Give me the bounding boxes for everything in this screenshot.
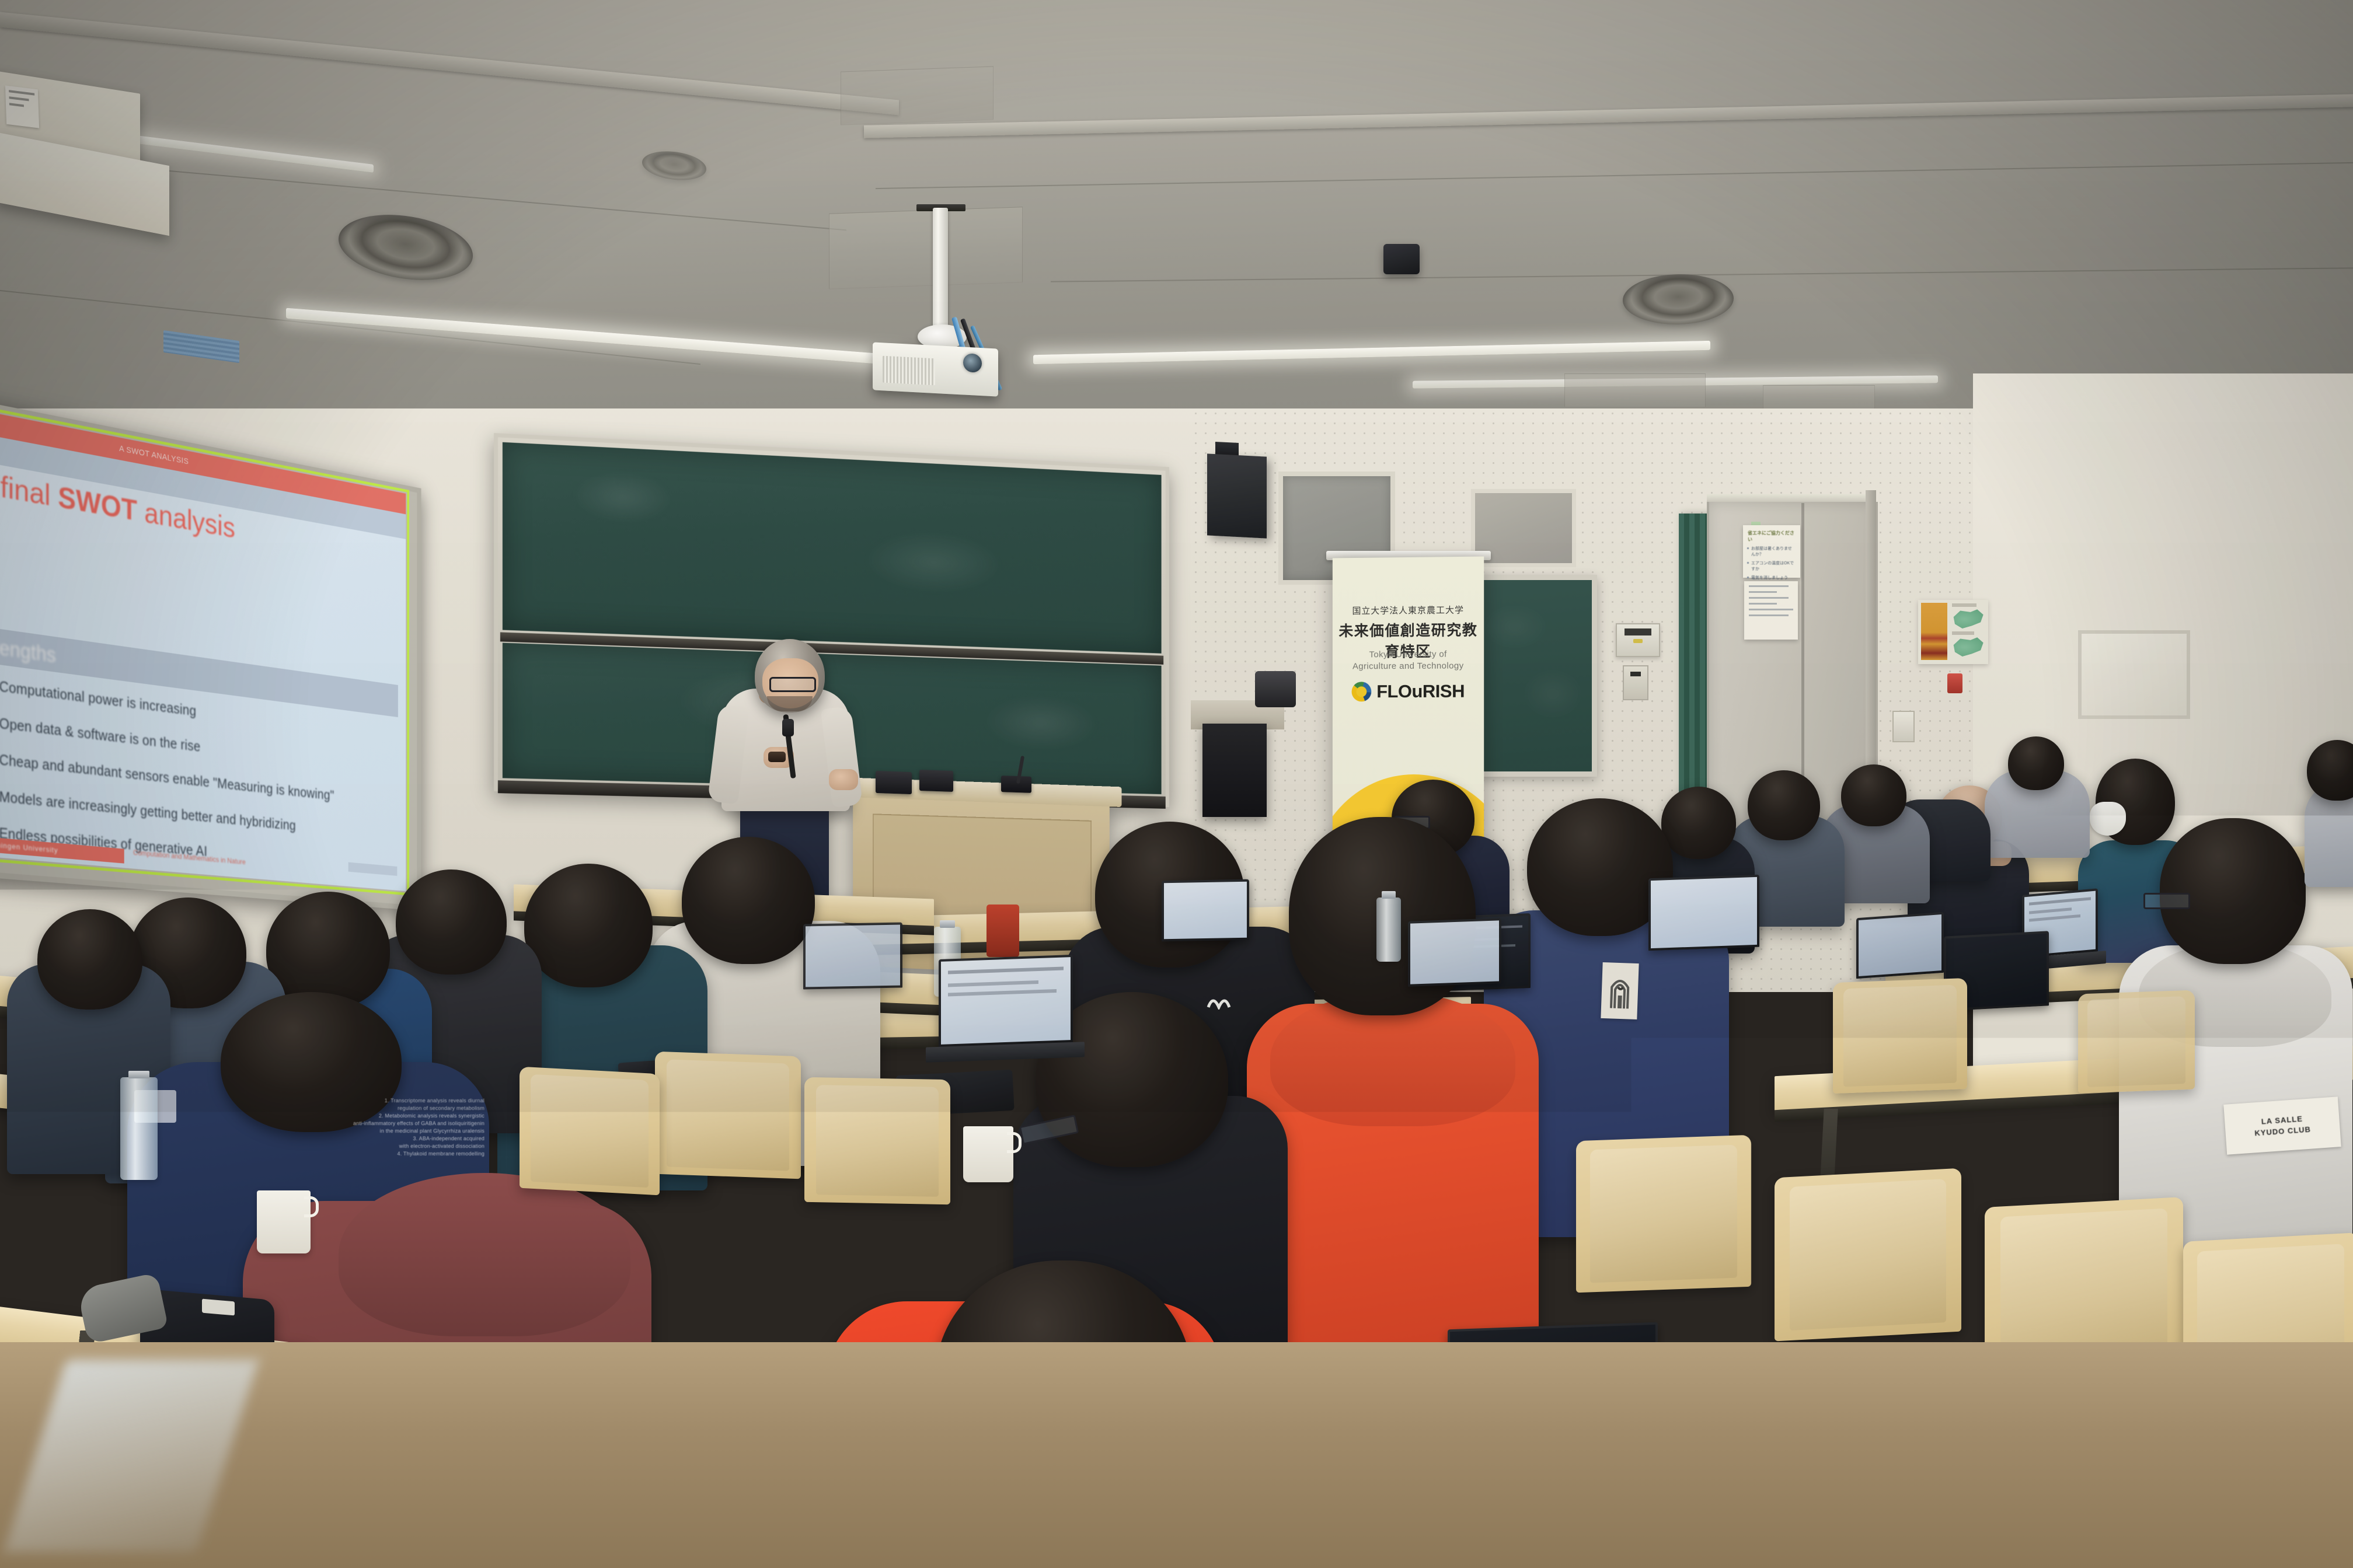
- blackboard-panel-upper: [503, 442, 1162, 654]
- floor-plan-map-icon: [1951, 608, 1985, 630]
- knowledge-panel-line: [960, 1314, 999, 1321]
- posted-notice: [5, 85, 39, 128]
- av-equipment-rack: [1202, 724, 1267, 817]
- knowledge-panel-line: [963, 1332, 1010, 1341]
- slide-section-label: Strengths: [0, 633, 56, 668]
- ceiling-panel: [1564, 373, 1706, 407]
- ceiling-access-panel: [829, 207, 1023, 289]
- intercom-speaker-icon: [1630, 672, 1641, 676]
- result-thumbnail[interactable]: [916, 1302, 949, 1330]
- knowledge-panel-line: [958, 1294, 1003, 1302]
- north-face-logo-icon: [1206, 992, 1232, 1010]
- intercom-panel[interactable]: [1623, 665, 1648, 700]
- cup-handle-icon: [1007, 1132, 1022, 1153]
- chair[interactable]: [1775, 1168, 1961, 1342]
- audience-head: [524, 864, 653, 987]
- flourish-wordmark: FLOuRISH: [1376, 681, 1465, 703]
- laptop[interactable]: [1162, 879, 1249, 942]
- water-bottle: [120, 1077, 158, 1180]
- laptop-screen: [941, 957, 1071, 1045]
- mug: [963, 1126, 1013, 1182]
- ceiling-access-panel: [841, 66, 994, 125]
- evacuation-map-poster: [1918, 600, 1988, 664]
- chair[interactable]: [655, 1052, 801, 1179]
- audience-head: [37, 909, 142, 1010]
- podium-equipment: [876, 771, 912, 794]
- lecture-hall-photo: A SWOT ANALYSIS A final SWOT analysis St…: [0, 0, 2353, 1568]
- hoodie-hood: [339, 1173, 630, 1336]
- bottle-cap-icon: [1382, 891, 1396, 899]
- notice-item: エアコンの温度はOKですか: [1751, 560, 1796, 572]
- banner-english-line-2: Agriculture and Technology: [1333, 661, 1484, 671]
- floor: [0, 1342, 2353, 1568]
- knowledge-panel-line: [964, 1343, 998, 1350]
- hoodie-line: anti-inflammatory effects of GABA and is…: [251, 1120, 484, 1127]
- bullet-text: Open data & software is on the rise: [0, 715, 200, 756]
- chair[interactable]: [804, 1077, 950, 1204]
- audience-head: [396, 869, 507, 975]
- banner-english-line-1: Tokyo University of: [1333, 649, 1484, 660]
- laptop[interactable]: [803, 923, 902, 990]
- result-thumbnail[interactable]: [999, 1288, 1027, 1317]
- hoodie-line: 4. Thylakoid membrane remodelling: [251, 1150, 484, 1158]
- search-result-line: [804, 1346, 937, 1365]
- hoodie-graphic-patch: LA SALLE KYUDO CLUB: [2223, 1096, 2341, 1154]
- laptop[interactable]: [1648, 875, 1759, 951]
- arch-logo-icon: [1608, 969, 1632, 1012]
- presenter-right-hand: [829, 769, 858, 790]
- podium-equipment: [919, 770, 953, 792]
- electric-kettle: [1255, 671, 1296, 707]
- chair[interactable]: [1833, 978, 1967, 1094]
- audience-head: [1748, 770, 1820, 840]
- laptop-screen: [806, 925, 900, 987]
- face-mask: [2090, 802, 2126, 836]
- presentation-clicker[interactable]: [768, 752, 786, 762]
- audience-head: [266, 892, 390, 1008]
- audience-head: [1841, 764, 1906, 826]
- bottle-cap-icon: [128, 1071, 149, 1078]
- notice-item: お部屋は暑くありませんか？: [1751, 546, 1796, 557]
- audience-head: [682, 837, 815, 964]
- laptop[interactable]: [1856, 912, 1944, 979]
- map-caption: [1952, 603, 1976, 607]
- presenter-eyeglasses: [769, 677, 816, 692]
- thermos-bottle: [257, 1190, 311, 1253]
- water-bottle: [1376, 898, 1401, 962]
- clothing-label-patch: [1601, 962, 1639, 1019]
- laptop-screen: [1859, 914, 1941, 976]
- projector-mount-pole: [933, 208, 948, 330]
- fire-alarm-button[interactable]: [1947, 673, 1962, 693]
- foreground-laptop[interactable]: Google 検索: [767, 1202, 1090, 1464]
- notice-item: 電気を消しましょう: [1751, 575, 1796, 581]
- lapel-microphone: [782, 719, 794, 736]
- search-query-text: 検索: [842, 1277, 853, 1286]
- projector-lens-icon: [963, 353, 982, 373]
- control-panel-button[interactable]: [1633, 639, 1643, 643]
- map-caption: [1952, 631, 1974, 635]
- google-logo: Google: [795, 1279, 831, 1297]
- laptop[interactable]: [939, 955, 1073, 1047]
- notice-title: 省エネにご協力ください: [1748, 530, 1796, 543]
- banner-logo-row: FLOuRISH: [1333, 680, 1484, 702]
- hoodie-line: 1. Transcriptome analysis reveals diurna…: [251, 1097, 484, 1105]
- laptop-screen: [1164, 882, 1247, 939]
- control-panel-display: [1625, 628, 1651, 635]
- ceiling-camera-icon: [1383, 244, 1420, 274]
- hoodie-science-text: 1. Transcriptome analysis reveals diurna…: [251, 1097, 484, 1158]
- floor-plan-map-icon: [1951, 636, 1985, 658]
- flourish-logo-icon: [1352, 682, 1372, 701]
- audience-head: [1661, 787, 1736, 859]
- secondary-door-notice: [1744, 581, 1798, 640]
- laptop[interactable]: [1408, 918, 1501, 987]
- hoodie-line: regulation of secondary metabolism: [251, 1105, 484, 1112]
- chair[interactable]: [2078, 990, 2195, 1094]
- chair[interactable]: [1576, 1135, 1751, 1293]
- search-result-line: [806, 1353, 956, 1374]
- laptop-screen: [1651, 877, 1757, 948]
- right-wall-whiteboard: [2078, 630, 2190, 719]
- hoodie-line: in the medicinal plant Glycyrrhiza urale…: [251, 1127, 484, 1135]
- laptop-screen[interactable]: Google 検索: [778, 1215, 1079, 1446]
- laptop-screen: [1410, 920, 1499, 984]
- chair[interactable]: [520, 1067, 660, 1196]
- hoodie-line: with electron-activated dissociation: [251, 1143, 484, 1150]
- light-switch[interactable]: [1892, 711, 1915, 742]
- cup-handle-icon: [304, 1196, 319, 1217]
- energy-saving-notice: 省エネにご協力ください お部屋は暑くありませんか？ エアコンの温度はOKですか …: [1743, 525, 1800, 578]
- hoodie-text-line-1: LA SALLE: [2261, 1115, 2303, 1126]
- wall-speaker: [1207, 453, 1267, 538]
- podium-equipment: [1001, 776, 1031, 793]
- audience-head: [2008, 736, 2064, 790]
- backpack-label: [202, 1299, 235, 1316]
- audience-head: [2160, 818, 2306, 964]
- projector-vent-icon: [883, 356, 935, 386]
- bottle-cap-icon: [940, 920, 955, 928]
- evacuation-instructions-panel: [1921, 603, 1947, 660]
- av-control-panel[interactable]: [1616, 623, 1660, 657]
- hoodie-line: 2. Metabolomic analysis reveals synergis…: [251, 1112, 484, 1120]
- audience-eyeglasses: [2143, 893, 2190, 909]
- hoodie-line: 3. ABA-independent acquired: [251, 1135, 484, 1143]
- hoodie-text-line-2: KYUDO CLUB: [2254, 1125, 2311, 1138]
- banner-japanese-line-1: 国立大学法人東京農工大学: [1333, 603, 1484, 617]
- beverage-can: [986, 905, 1019, 957]
